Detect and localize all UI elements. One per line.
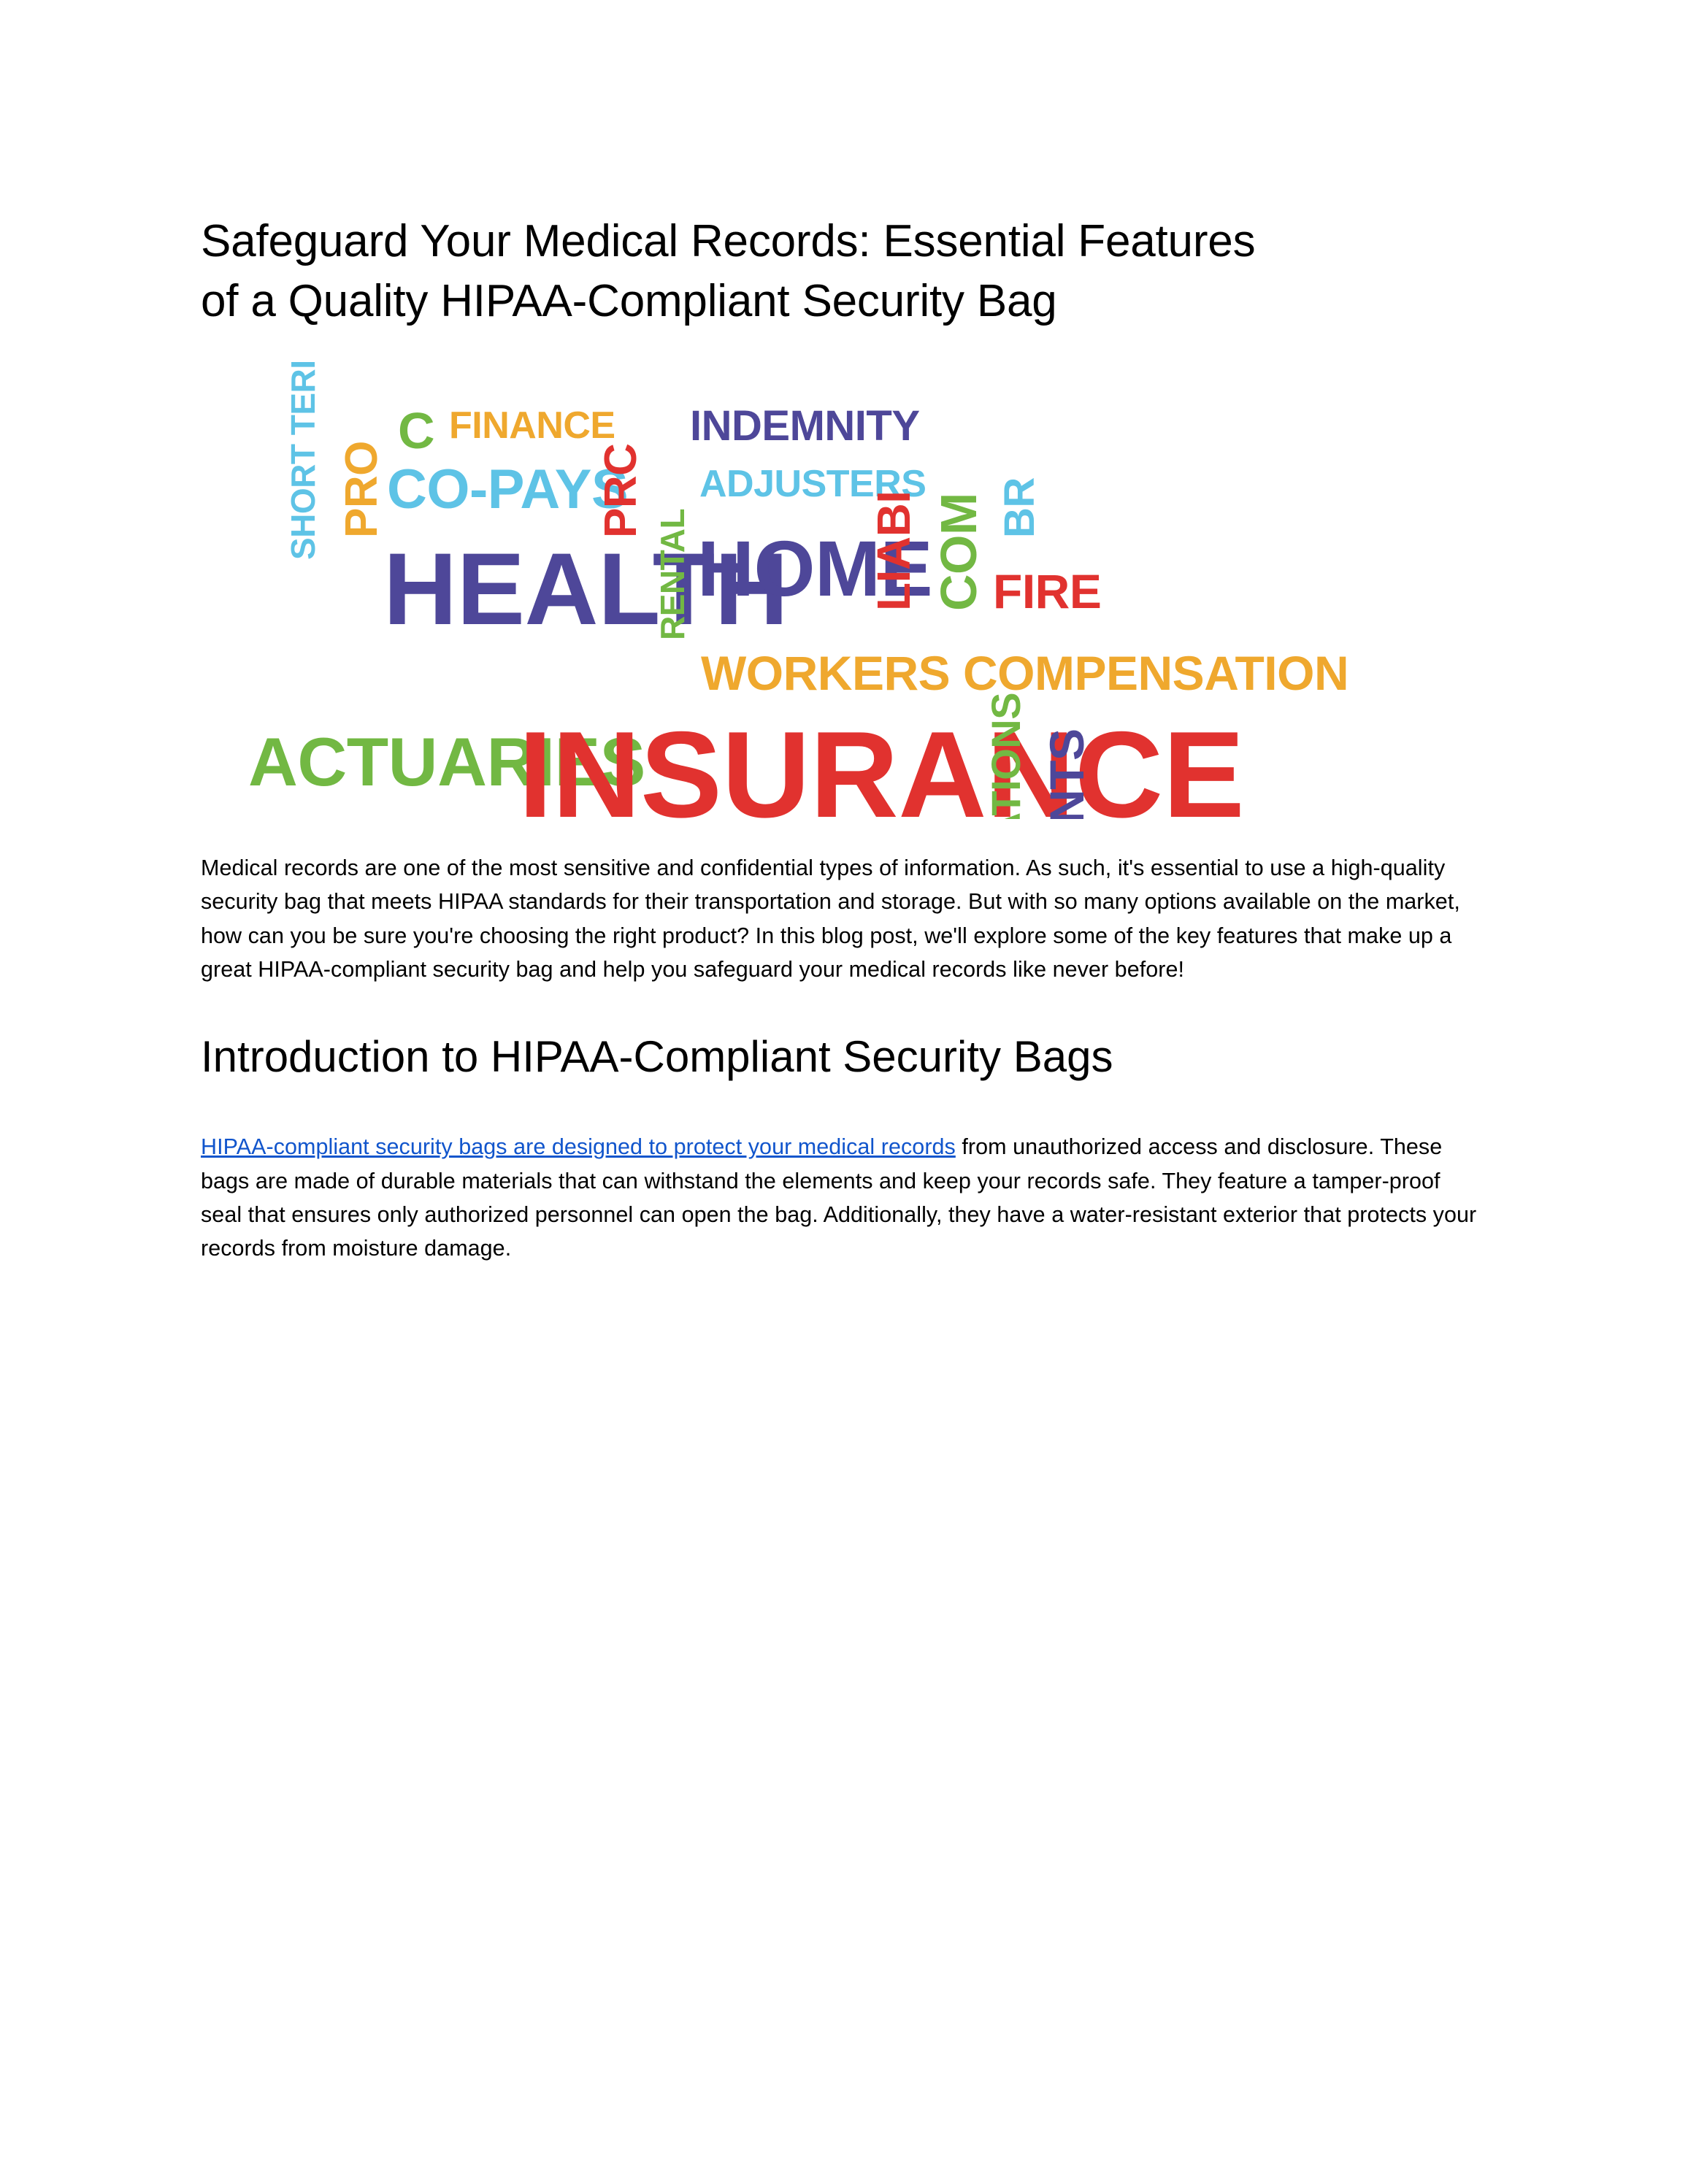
wordcloud-word: LIABI	[870, 491, 917, 611]
wordcloud-word: INDEMNITY	[690, 405, 920, 447]
page-title: Safeguard Your Medical Records: Essentia…	[201, 212, 1296, 332]
wordcloud-word: FINANCE	[449, 407, 615, 445]
insurance-word-cloud-image: SHORT TERIPROCFINANCECO-PAYSHEALTHPRCREN…	[241, 348, 1365, 819]
wordcloud-word: INSURANCE	[518, 713, 1244, 819]
wordcloud-word: C	[398, 405, 434, 456]
wordcloud-word: WORKERS COMPENSATION	[701, 649, 1349, 697]
wordcloud-word: COM	[933, 493, 984, 611]
wordcloud-word: ULATIONS	[986, 693, 1027, 819]
document-page: Safeguard Your Medical Records: Essentia…	[0, 0, 1688, 2184]
wordcloud-word: MENTS	[1043, 728, 1091, 819]
wordcloud-word: CO-PAYS	[387, 462, 628, 518]
wordcloud-word: SHORT TERI	[286, 360, 320, 560]
hipaa-bags-link[interactable]: HIPAA-compliant security bags are design…	[201, 1134, 956, 1159]
section-heading: Introduction to HIPAA-Compliant Security…	[201, 1027, 1296, 1086]
wordcloud-word: RENTAL	[656, 509, 689, 640]
wordcloud-word: BR	[999, 477, 1041, 538]
section-paragraph: HIPAA-compliant security bags are design…	[201, 1130, 1486, 1265]
wordcloud-word: PRC	[599, 444, 644, 538]
wordcloud-word: FIRE	[993, 567, 1101, 615]
figure-container: SHORT TERIPROCFINANCECO-PAYSHEALTHPRCREN…	[201, 348, 1486, 819]
intro-paragraph: Medical records are one of the most sens…	[201, 851, 1486, 986]
wordcloud-word: PRO	[339, 441, 385, 538]
